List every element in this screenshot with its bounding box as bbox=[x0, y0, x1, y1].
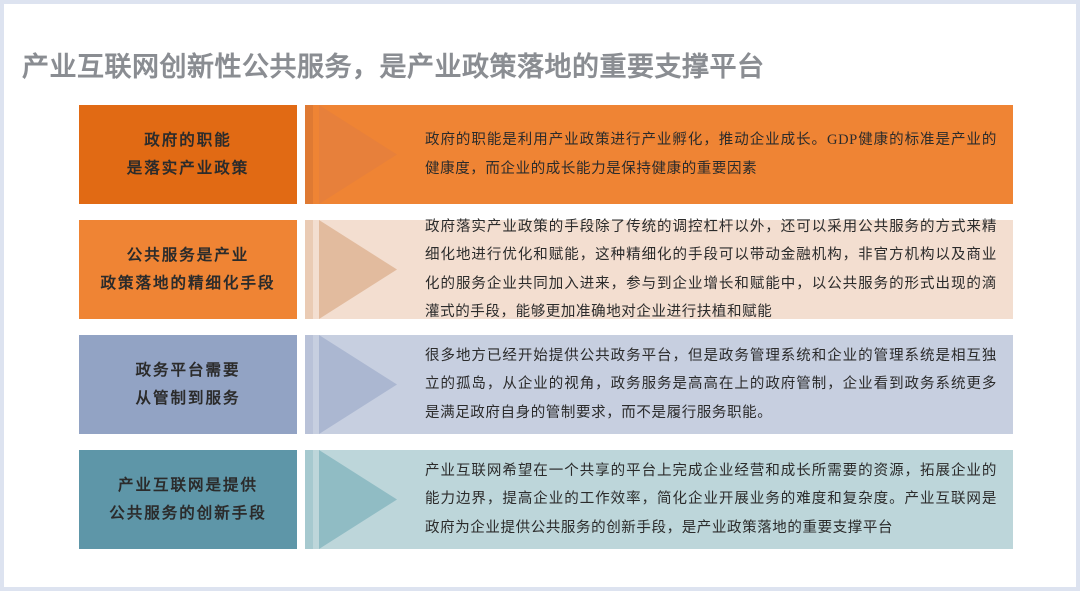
process-rows-container: 政府的职能 是落实产业政策 政府的职能是利用产业政策进行产业孵化，推动企业成长。… bbox=[4, 4, 1080, 591]
process-row-2[interactable]: 公共服务是产业 政策落地的精细化手段 政府落实产业政策的手段除了传统的调控杠杆以… bbox=[79, 220, 1013, 319]
row-2-label-box[interactable]: 公共服务是产业 政策落地的精细化手段 bbox=[79, 220, 297, 319]
process-row-4[interactable]: 产业互联网是提供 公共服务的创新手段 产业互联网希望在一个共享的平台上完成企业经… bbox=[79, 450, 1013, 549]
row-4-label-line-1: 产业互联网是提供 bbox=[118, 472, 258, 499]
row-2-content-text: 政府落实产业政策的手段除了传统的调控杠杆以外，还可以采用公共服务的方式来精细化地… bbox=[425, 213, 997, 326]
row-3-content-box[interactable]: 很多地方已经开始提供公共政务平台，但是政务管理系统和企业的管理系统是相互独立的孤… bbox=[305, 335, 1013, 434]
row-2-content-box[interactable]: 政府落实产业政策的手段除了传统的调控杠杆以外，还可以采用公共服务的方式来精细化地… bbox=[305, 220, 1013, 319]
row-3-label-line-2: 从管制到服务 bbox=[135, 385, 240, 412]
slide-canvas: 产业互联网创新性公共服务，是产业政策落地的重要支撑平台 政府的职能 是落实产业政… bbox=[0, 0, 1080, 591]
row-1-content-text: 政府的职能是利用产业政策进行产业孵化，推动企业成长。GDP健康的标准是产业的健康… bbox=[425, 126, 997, 183]
row-3-label-line-1: 政务平台需要 bbox=[135, 357, 240, 384]
row-4-content-box[interactable]: 产业互联网希望在一个共享的平台上完成企业经营和成长所需要的资源，拓展企业的能力边… bbox=[305, 450, 1013, 549]
row-3-label-box[interactable]: 政务平台需要 从管制到服务 bbox=[79, 335, 297, 434]
row-2-label-line-2: 政策落地的精细化手段 bbox=[100, 270, 275, 297]
row-1-label-line-1: 政府的职能 bbox=[144, 127, 232, 154]
row-1-content-box[interactable]: 政府的职能是利用产业政策进行产业孵化，推动企业成长。GDP健康的标准是产业的健康… bbox=[305, 105, 1013, 204]
row-1-label-box[interactable]: 政府的职能 是落实产业政策 bbox=[79, 105, 297, 204]
process-row-3[interactable]: 政务平台需要 从管制到服务 很多地方已经开始提供公共政务平台，但是政务管理系统和… bbox=[79, 335, 1013, 434]
process-row-1[interactable]: 政府的职能 是落实产业政策 政府的职能是利用产业政策进行产业孵化，推动企业成长。… bbox=[79, 105, 1013, 204]
row-4-label-box[interactable]: 产业互联网是提供 公共服务的创新手段 bbox=[79, 450, 297, 549]
row-3-content-text: 很多地方已经开始提供公共政务平台，但是政务管理系统和企业的管理系统是相互独立的孤… bbox=[425, 342, 997, 427]
row-4-content-text: 产业互联网希望在一个共享的平台上完成企业经营和成长所需要的资源，拓展企业的能力边… bbox=[425, 457, 997, 542]
row-1-label-line-2: 是落实产业政策 bbox=[127, 155, 250, 182]
row-4-label-line-2: 公共服务的创新手段 bbox=[109, 500, 267, 527]
row-2-label-line-1: 公共服务是产业 bbox=[127, 242, 250, 269]
